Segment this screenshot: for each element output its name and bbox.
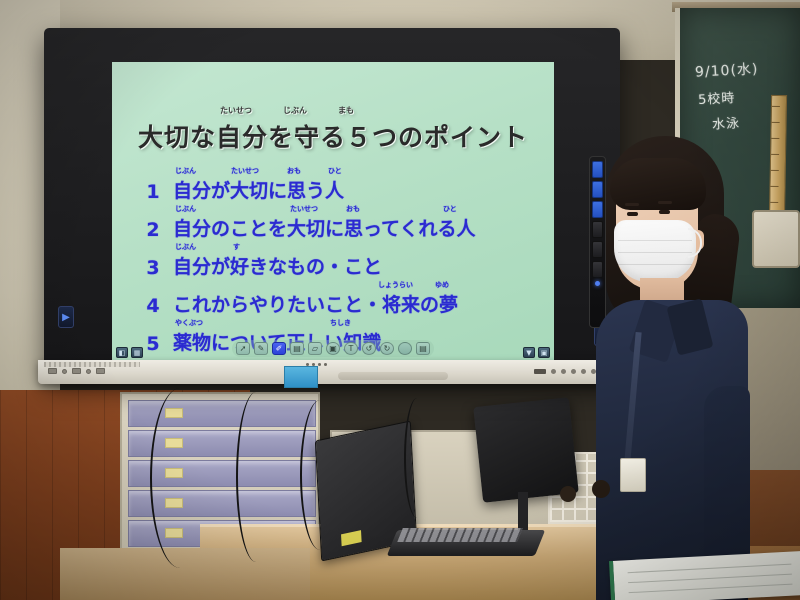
wall-cable bbox=[150, 388, 210, 568]
list-item-label: これからやりたいこと・将来の夢 bbox=[173, 294, 458, 316]
menu-button[interactable] bbox=[551, 369, 556, 374]
image-insert-icon[interactable]: ▣ bbox=[326, 342, 340, 355]
power-cable bbox=[300, 400, 340, 550]
eye-left bbox=[627, 212, 638, 216]
presentation-slide: たいせつ じぶん まも 大切な自分を守る５つのポイント 1 じぶん たいせつ お… bbox=[112, 62, 554, 362]
ruby: たいせつ bbox=[231, 166, 259, 176]
classroom-scene: 9/10(水) 5校時 水泳 たいせつ じぶん bbox=[0, 0, 800, 600]
title-ruby-3: まも bbox=[338, 105, 354, 116]
list-item: 1 じぶん たいせつ おも ひと 自分が大切に思う人 bbox=[146, 176, 554, 203]
ruby: おも bbox=[287, 166, 301, 176]
volume-up-button[interactable] bbox=[571, 369, 576, 374]
ruby: しょうらい bbox=[378, 280, 413, 290]
undo-icon[interactable]: ↺ bbox=[362, 342, 376, 355]
wall-ruler bbox=[769, 95, 787, 223]
ruby: す bbox=[233, 242, 240, 252]
ruby: ひと bbox=[328, 166, 342, 176]
vga-port[interactable] bbox=[86, 369, 91, 374]
screen-corner-right-controls[interactable]: ▼ ▣ bbox=[523, 347, 550, 358]
blue-label-card bbox=[284, 366, 318, 388]
save-page-icon[interactable]: ▤ bbox=[416, 342, 430, 355]
port-row[interactable] bbox=[48, 368, 105, 374]
slide-point-list: 1 じぶん たいせつ おも ひと 自分が大切に思う人 2 じぶん bbox=[112, 176, 554, 355]
student-head bbox=[592, 480, 610, 498]
ruby: ゆめ bbox=[435, 280, 449, 290]
brand-plate bbox=[44, 362, 140, 367]
ruby: じぶん bbox=[175, 204, 196, 214]
ruby: ひと bbox=[443, 204, 457, 214]
wall-fixture bbox=[752, 210, 800, 268]
eyebrow-left bbox=[625, 203, 639, 206]
whiteboard-bottom-bezel bbox=[38, 360, 626, 384]
usb-port[interactable] bbox=[72, 368, 81, 374]
blackboard-period: 5校時 bbox=[698, 87, 736, 108]
whiteboard-software-toolbar[interactable]: ➚ ✎ ✐ ▤ ▱ ▣ T ↺ ↻ ▤ bbox=[232, 340, 434, 357]
list-item-label: 自分のことを大切に思ってくれる人 bbox=[173, 218, 475, 240]
page-back-icon[interactable]: ◧ bbox=[116, 347, 128, 358]
grid-view-icon[interactable]: ▦ bbox=[131, 347, 143, 358]
list-item-number: 4 bbox=[146, 295, 160, 317]
face-mask bbox=[614, 220, 696, 282]
screen-corner-left-controls[interactable]: ◧ ▦ bbox=[116, 347, 143, 358]
list-item-number: 5 bbox=[146, 333, 160, 355]
id-badge bbox=[620, 458, 646, 492]
ruby: じぶん bbox=[175, 242, 196, 252]
list-item: 4 しょうらい ゆめ これからやりたいこと・将来の夢 bbox=[146, 290, 554, 317]
power-button[interactable] bbox=[534, 369, 546, 374]
interactive-whiteboard[interactable]: たいせつ じぶん まも 大切な自分を守る５つのポイント 1 じぶん たいせつ お… bbox=[44, 28, 620, 380]
blackboard-subject: 水泳 bbox=[712, 112, 741, 132]
cursor-select-icon[interactable]: ➚ bbox=[236, 342, 250, 355]
wall-cable bbox=[236, 392, 276, 562]
laptop-keyboard[interactable] bbox=[397, 528, 523, 542]
eyebrow-right bbox=[658, 201, 672, 204]
list-item: 2 じぶん たいせつ おも ひと 自分のことを大切に思ってくれる人 bbox=[146, 214, 554, 241]
title-ruby-2: じぶん bbox=[283, 105, 307, 116]
student-head bbox=[560, 486, 576, 502]
laptop-sticker bbox=[341, 530, 362, 546]
whiteboard-screen[interactable]: たいせつ じぶん まも 大切な自分を守る５つのポイント 1 じぶん たいせつ お… bbox=[112, 62, 554, 362]
expand-right-arrow-icon[interactable]: ▶ bbox=[58, 306, 74, 328]
list-item-text-wrap: じぶん す 自分が好きなもの・こと bbox=[173, 252, 382, 279]
camera-capture-icon[interactable]: ▣ bbox=[538, 347, 550, 358]
monitor-stand bbox=[518, 492, 528, 532]
center-handle bbox=[338, 372, 448, 380]
list-item: 3 じぶん す 自分が好きなもの・こと bbox=[146, 252, 554, 279]
text-box-icon[interactable]: T bbox=[344, 342, 358, 355]
hdmi-port[interactable] bbox=[48, 368, 57, 374]
indicator-row bbox=[306, 363, 327, 366]
highlighter-icon[interactable]: ✐ bbox=[272, 342, 286, 355]
blackboard-date: 9/10(水) bbox=[695, 58, 759, 81]
color-swatch-icon[interactable] bbox=[398, 342, 412, 355]
ruby: ちしき bbox=[330, 318, 351, 328]
save-icon[interactable]: ▼ bbox=[523, 347, 535, 358]
slide-title-text: 大切な自分を守る５つのポイント bbox=[138, 123, 528, 152]
list-item-number: 3 bbox=[146, 257, 160, 279]
eraser-icon[interactable]: ▤ bbox=[290, 342, 304, 355]
list-item-number: 1 bbox=[146, 181, 160, 203]
list-item-label: 自分が好きなもの・こと bbox=[173, 256, 382, 278]
audio-port[interactable] bbox=[62, 369, 67, 374]
redo-icon[interactable]: ↻ bbox=[380, 342, 394, 355]
title-ruby-1: たいせつ bbox=[220, 105, 252, 116]
volume-down-button[interactable] bbox=[581, 369, 586, 374]
ruby: おも bbox=[346, 204, 360, 214]
pen-icon[interactable]: ✎ bbox=[254, 342, 268, 355]
list-item-number: 2 bbox=[146, 219, 160, 241]
list-item-text-wrap: じぶん たいせつ おも ひと 自分のことを大切に思ってくれる人 bbox=[173, 214, 475, 241]
ruby: たいせつ bbox=[290, 204, 318, 214]
teacher-presenter bbox=[596, 136, 748, 600]
ruby: じぶん bbox=[175, 166, 196, 176]
video-cable bbox=[404, 398, 430, 518]
list-item-text-wrap: じぶん たいせつ おも ひと 自分が大切に思う人 bbox=[173, 176, 344, 203]
shape-icon[interactable]: ▱ bbox=[308, 342, 322, 355]
list-item-label: 自分が大切に思う人 bbox=[173, 180, 344, 202]
ruby: やくぶつ bbox=[175, 318, 203, 328]
list-item-text-wrap: しょうらい ゆめ これからやりたいこと・将来の夢 bbox=[173, 290, 458, 317]
lan-port[interactable] bbox=[96, 368, 105, 374]
source-button[interactable] bbox=[561, 369, 566, 374]
slide-title: たいせつ じぶん まも 大切な自分を守る５つのポイント bbox=[112, 118, 554, 154]
eye-right bbox=[659, 210, 670, 214]
